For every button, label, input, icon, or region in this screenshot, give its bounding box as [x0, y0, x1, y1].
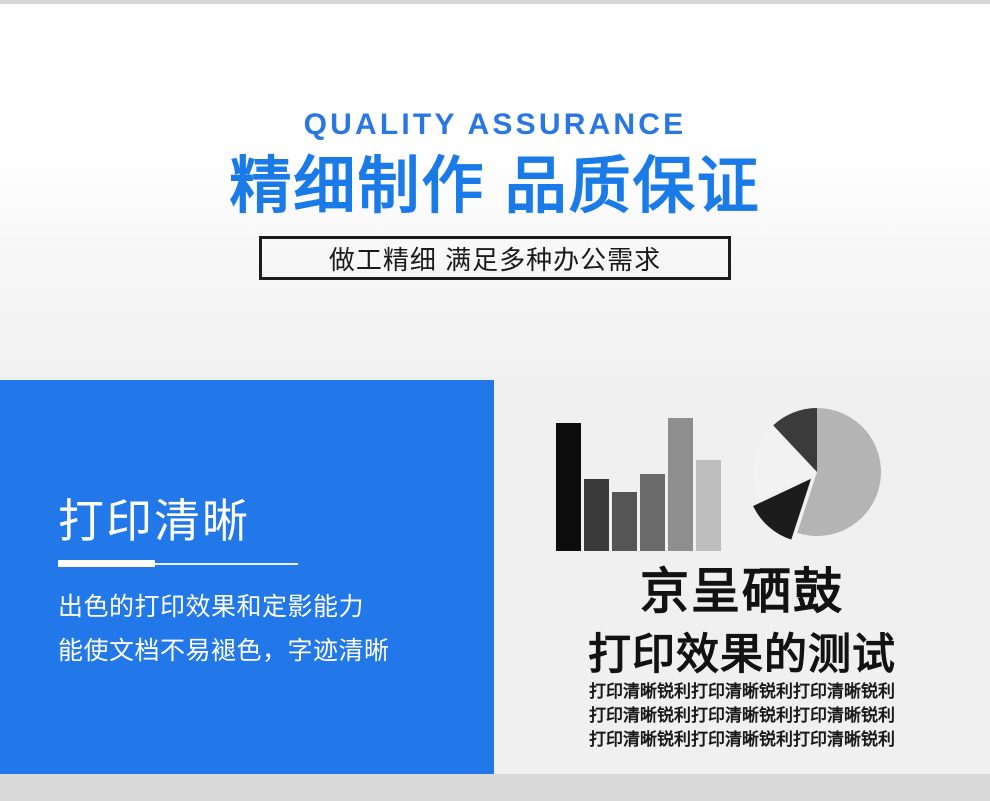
- pie-chart: [749, 402, 889, 550]
- print-sample-text: 打印清晰锐利打印清晰锐利打印清晰锐利 打印清晰锐利打印清晰锐利打印清晰锐利 打印…: [494, 680, 990, 752]
- divider-thin-segment: [155, 563, 298, 565]
- header-section: QUALITY ASSURANCE 精细制作 品质保证 做工精细 满足多种办公需…: [0, 4, 990, 376]
- bar-chart: [556, 406, 721, 551]
- bar-chart-bar: [696, 460, 721, 551]
- print-sample-line-2: 打印清晰锐利打印清晰锐利打印清晰锐利: [494, 704, 990, 728]
- charts-area: [494, 380, 990, 555]
- test-result-panel: 京呈硒鼓 打印效果的测试 打印清晰锐利打印清晰锐利打印清晰锐利 打印清晰锐利打印…: [494, 380, 990, 774]
- feature-panel-title: 打印清晰: [58, 485, 250, 551]
- feature-panel-description: 出色的打印效果和定影能力 能使文档不易褪色，字迹清晰: [58, 585, 478, 673]
- brand-title: 京呈硒鼓: [494, 552, 990, 623]
- print-sample-line-1: 打印清晰锐利打印清晰锐利打印清晰锐利: [494, 680, 990, 704]
- divider-thick-segment: [58, 560, 155, 567]
- feature-panel-line-1: 出色的打印效果和定影能力: [58, 585, 478, 629]
- bar-chart-bar: [640, 474, 665, 551]
- header-eyebrow: QUALITY ASSURANCE: [0, 108, 990, 142]
- header-headline: 精细制作 品质保证: [0, 149, 990, 225]
- bar-chart-bar: [584, 479, 609, 552]
- header-subtitle-text: 做工精细 满足多种办公需求: [329, 240, 661, 277]
- bar-chart-bar: [668, 418, 693, 551]
- feature-panel-print-clarity: 打印清晰 出色的打印效果和定影能力 能使文档不易褪色，字迹清晰: [0, 380, 494, 774]
- bar-chart-bar: [556, 423, 581, 551]
- bottom-divider-strip: [0, 774, 990, 801]
- print-sample-line-3: 打印清晰锐利打印清晰锐利打印清晰锐利: [494, 728, 990, 752]
- bar-chart-bar: [612, 492, 637, 551]
- pie-chart-svg: [749, 402, 889, 550]
- brand-subtitle: 打印效果的测试: [494, 620, 990, 682]
- header-subtitle-box: 做工精细 满足多种办公需求: [259, 236, 731, 280]
- promo-page: QUALITY ASSURANCE 精细制作 品质保证 做工精细 满足多种办公需…: [0, 0, 990, 801]
- feature-panel-line-2: 能使文档不易褪色，字迹清晰: [58, 629, 478, 673]
- feature-panel-divider: [58, 560, 298, 567]
